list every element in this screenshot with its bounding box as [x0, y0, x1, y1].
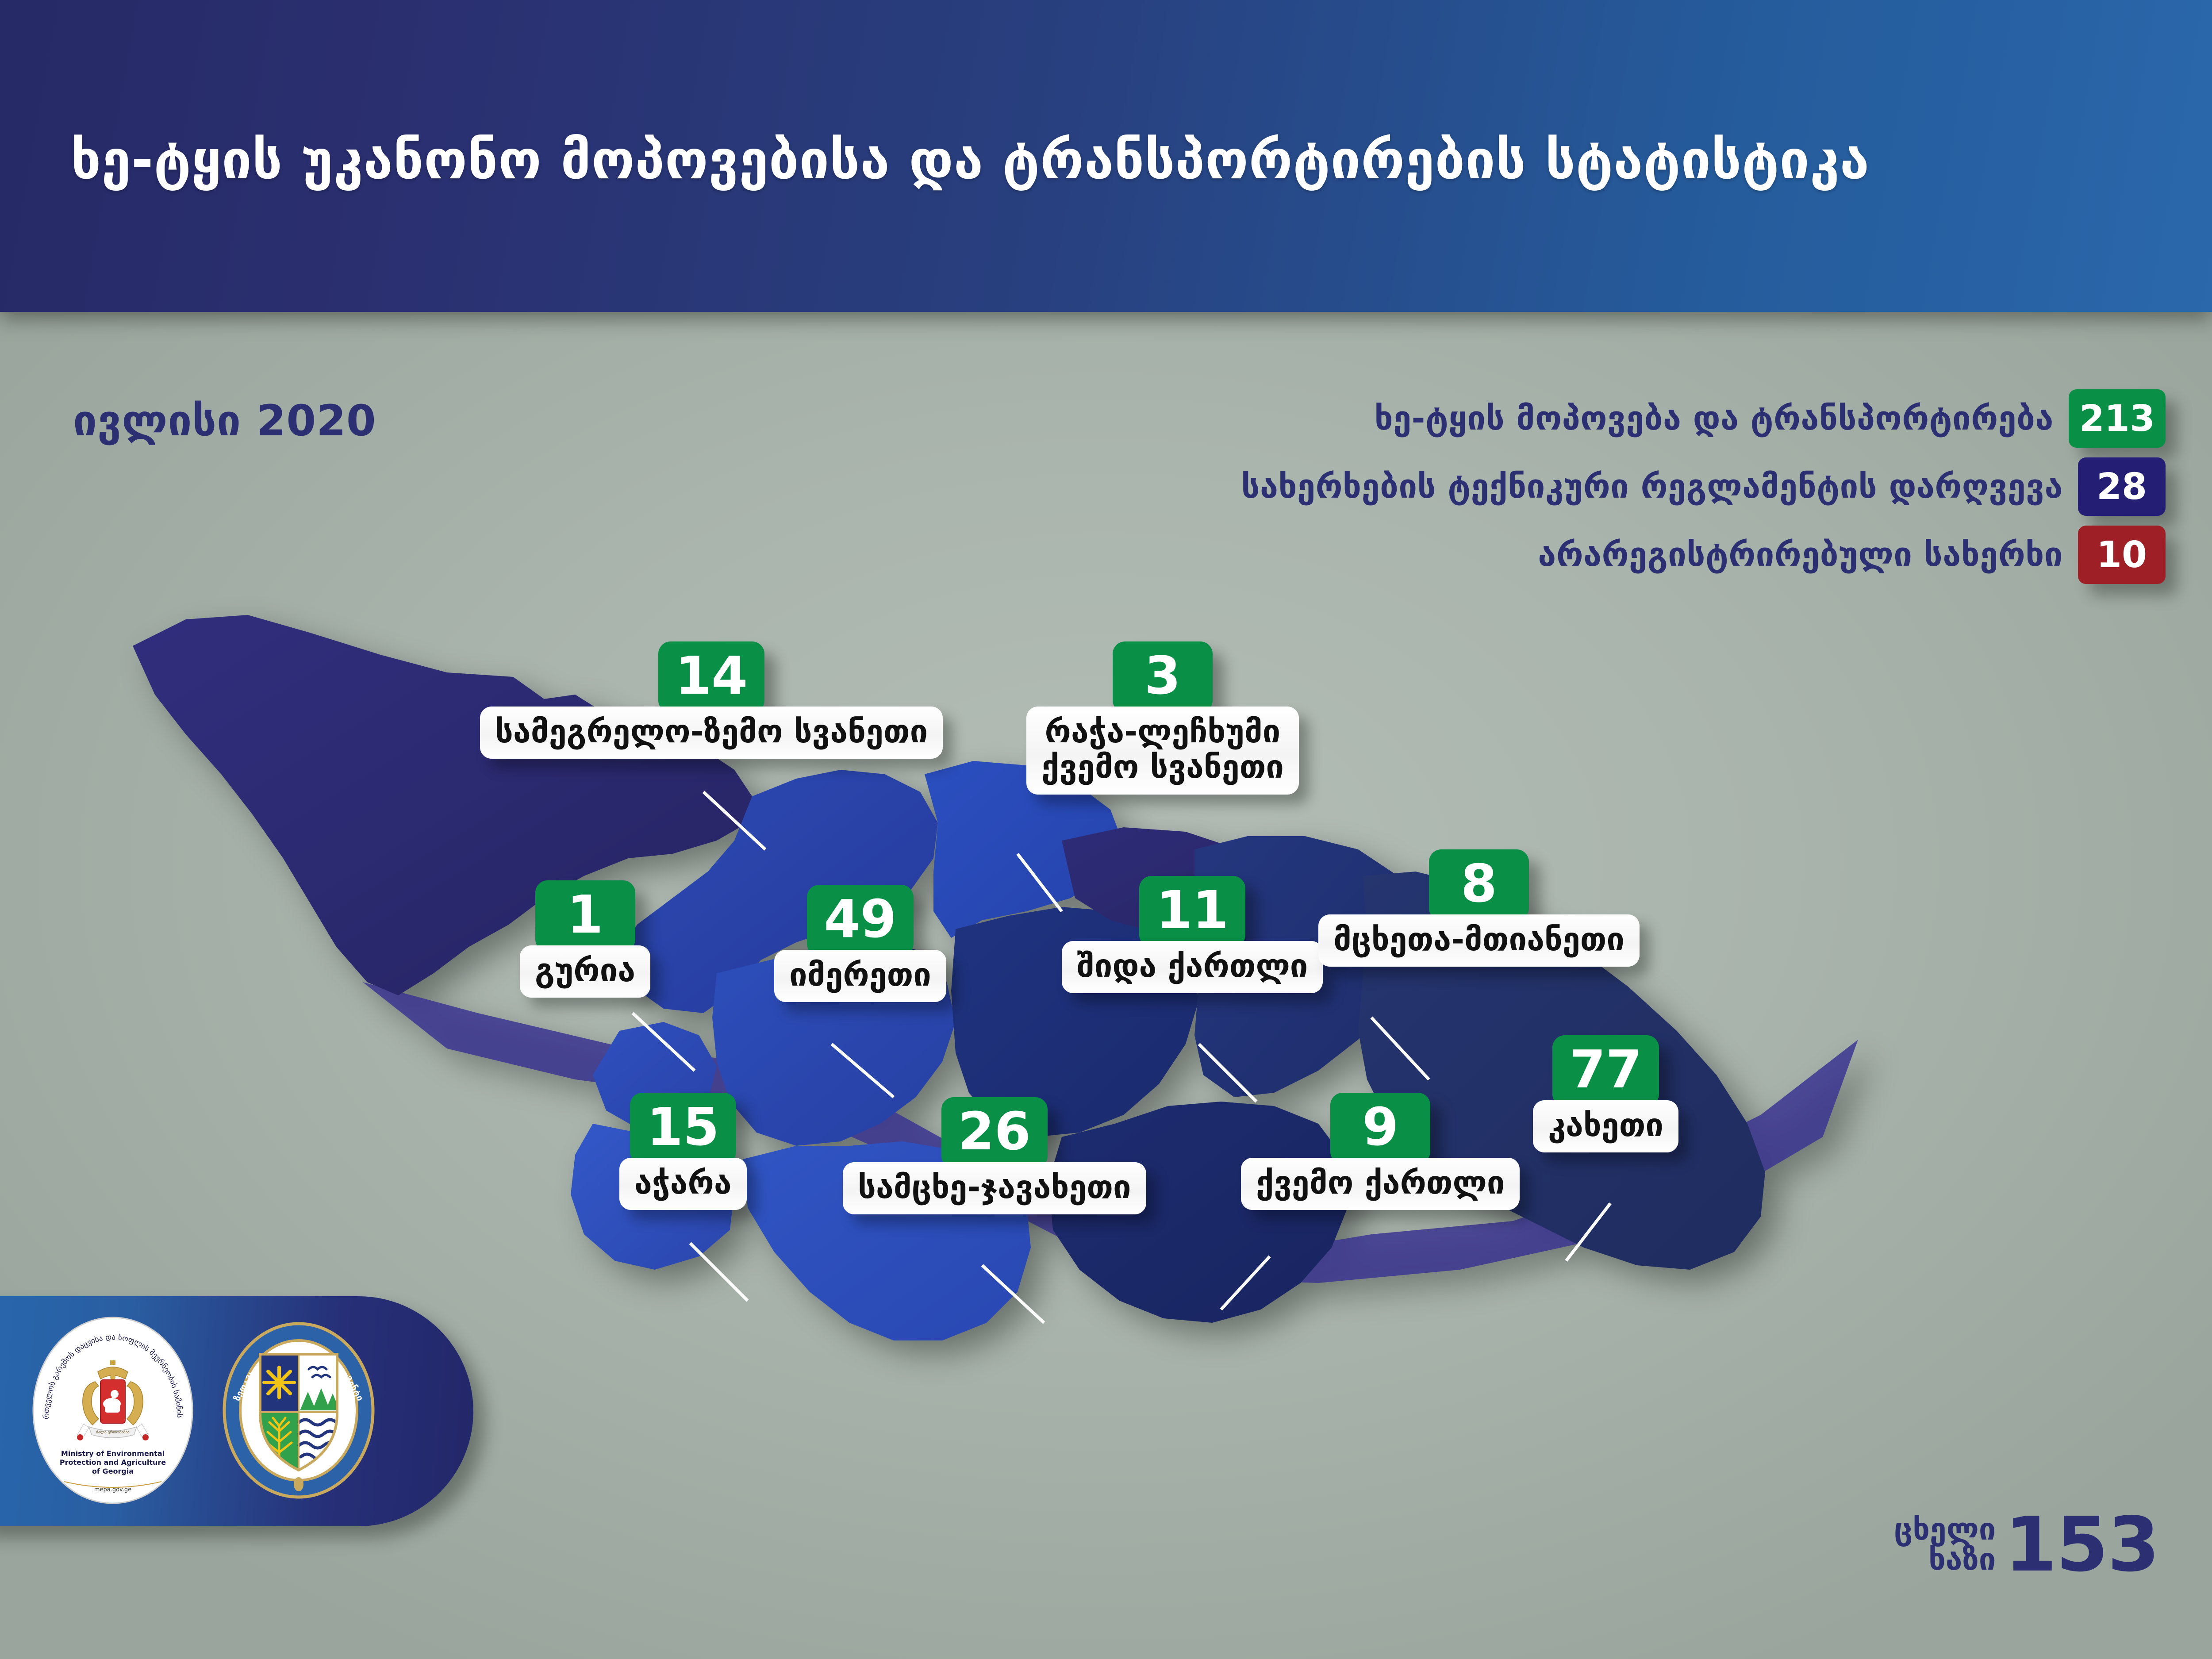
legend-item-timber: ხე-ტყის მოპოვება და ტრანსპორტირება 213: [936, 389, 2166, 448]
legend-label-sawmill-regulation: სახერხების ტექნიკური რეგლამენტის დარღვევ…: [1241, 468, 2078, 506]
leader-guria: [633, 1013, 695, 1071]
marker-count-mtskheta: 8: [1429, 849, 1529, 921]
marker-label-kakheti: კახეთი: [1533, 1100, 1678, 1153]
marker-kvemo-kartli[interactable]: 9 ქვემო ქართლი: [1241, 1093, 1520, 1210]
marker-imereti[interactable]: 49 იმერეთი: [774, 885, 946, 1002]
marker-label-kvemo-kartli: ქვემო ქართლი: [1241, 1158, 1520, 1210]
marker-label-samtskhe: სამცხე-ჯავახეთი: [843, 1162, 1146, 1215]
leader-kakheti: [1566, 1203, 1610, 1261]
marker-count-samegrelo: 14: [658, 641, 764, 713]
legend-badge-timber: 213: [2069, 389, 2166, 448]
marker-count-guria: 1: [535, 880, 635, 952]
legend-label-timber: ხე-ტყის მოპოვება და ტრანსპორტირება: [1375, 399, 2069, 438]
marker-mtskheta-mtianeti[interactable]: 8 მცხეთა-მთიანეთი: [1318, 849, 1640, 967]
leader-racha: [1018, 854, 1062, 911]
marker-label-adjara: აჭარა: [619, 1158, 747, 1210]
leader-mtskheta: [1371, 1018, 1429, 1079]
page-title: ხე-ტყის უკანონო მოპოვებისა და ტრანსპორტი…: [71, 133, 2150, 188]
leader-samtskhe: [982, 1265, 1044, 1323]
marker-adjara[interactable]: 15 აჭარა: [619, 1093, 747, 1210]
date-label: ივლისი 2020: [73, 396, 376, 445]
legend-badge-unregistered-sawmill: 10: [2078, 526, 2166, 584]
marker-label-shida-kartli: შიდა ქართლი: [1062, 941, 1323, 994]
ministry-emblem-english-line: Ministry of Environmental: [61, 1449, 165, 1458]
marker-count-kakheti: 77: [1552, 1035, 1659, 1106]
marker-count-kvemo-kartli: 9: [1330, 1093, 1430, 1164]
ministry-emblem-website: mepa.gov.ge: [94, 1486, 131, 1493]
marker-label-samegrelo: სამეგრელო-ზემო სვანეთი: [480, 707, 943, 759]
leader-kvemo-kartli: [1221, 1256, 1270, 1310]
marker-racha-lechkhumi[interactable]: 3 რაჭა-ლეჩხუმი ქვემო სვანეთი: [1026, 641, 1299, 795]
svg-text:Protection and Agriculture: Protection and Agriculture: [60, 1458, 166, 1467]
hotline: ცხელი ხაზი 153: [1894, 1510, 2159, 1579]
ministry-emblem: საქართველოს გარემოს დაცვისა და სოფლის მე…: [31, 1315, 195, 1507]
marker-count-imereti: 49: [807, 885, 913, 956]
legend-badge-sawmill-regulation: 28: [2078, 457, 2166, 516]
header-banner: ხე-ტყის უკანონო მოპოვებისა და ტრანსპორტი…: [0, 0, 2212, 312]
legend-item-unregistered-sawmill: არარეგისტრირებული სახერხი 10: [936, 526, 2166, 584]
legend-label-unregistered-sawmill: არარეგისტრირებული სახერხი: [1538, 536, 2078, 574]
leader-adjara: [690, 1243, 748, 1301]
marker-count-adjara: 15: [630, 1093, 736, 1164]
leader-imereti: [832, 1044, 894, 1097]
marker-samegrelo-zemo-svaneti[interactable]: 14 სამეგრელო-ზემო სვანეთი: [480, 641, 943, 759]
marker-shida-kartli[interactable]: 11 შიდა ქართლი: [1062, 876, 1323, 993]
svg-text:ძალა ერთობაშია: ძალა ერთობაშია: [96, 1430, 130, 1435]
marker-count-shida-kartli: 11: [1139, 876, 1245, 947]
marker-count-racha: 3: [1113, 641, 1213, 713]
leader-samegrelo: [703, 792, 765, 849]
marker-label-guria: გურია: [520, 945, 650, 998]
marker-guria[interactable]: 1 გურია: [520, 880, 650, 998]
marker-count-samtskhe: 26: [941, 1097, 1048, 1168]
marker-label-imereti: იმერეთი: [774, 950, 946, 1002]
legend: ხე-ტყის მოპოვება და ტრანსპორტირება 213 ს…: [936, 389, 2166, 584]
hotline-number: 153: [2005, 1510, 2159, 1579]
legend-item-sawmill-regulation: სახერხების ტექნიკური რეგლამენტის დარღვევ…: [936, 457, 2166, 516]
hotline-words: ცხელი ხაზი: [1894, 1515, 2005, 1575]
supervision-emblem: ზედამხედველობის დეპარტამენტი გარემოსდაცვ…: [221, 1320, 376, 1503]
marker-samtskhe-javakheti[interactable]: 26 სამცხე-ჯავახეთი: [843, 1097, 1146, 1214]
hotline-line1: ცხელი: [1894, 1515, 1996, 1545]
marker-label-racha: რაჭა-ლეჩხუმი ქვემო სვანეთი: [1026, 707, 1299, 795]
marker-label-mtskheta: მცხეთა-მთიანეთი: [1318, 914, 1640, 967]
logo-plate: საქართველოს გარემოს დაცვისა და სოფლის მე…: [0, 1296, 473, 1526]
hotline-line2: ხაზი: [1894, 1545, 1996, 1575]
svg-text:of Georgia: of Georgia: [92, 1467, 134, 1475]
marker-kakheti[interactable]: 77 კახეთი: [1533, 1035, 1678, 1152]
